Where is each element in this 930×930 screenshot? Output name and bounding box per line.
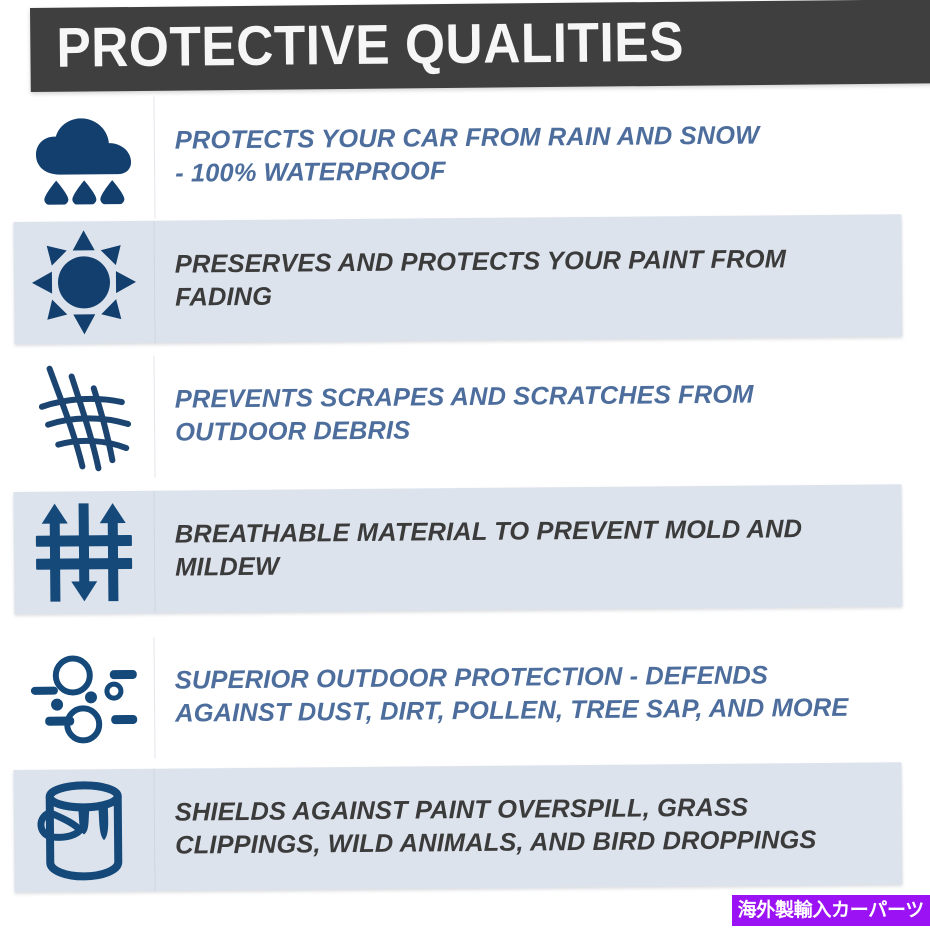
feature-label: PRESERVES AND PROTECTS YOUR PAINT FROM F… <box>175 242 889 314</box>
feature-row: SUPERIOR OUTDOOR PROTECTION - DEFENDS AG… <box>13 630 902 760</box>
breathable-airflow-icon <box>13 491 154 614</box>
feature-row: BREATHABLE MATERIAL TO PREVENT MOLD AND … <box>13 484 902 614</box>
feature-row: PROTECTS YOUR CAR FROM RAIN AND SNOW - 1… <box>13 90 902 220</box>
protective-qualities-infographic: PROTECTIVE QUALITIES PROTECTS YOUR CAR F… <box>0 0 930 930</box>
watermark-badge: 海外製輸入カーパーツ <box>732 895 930 926</box>
feature-row: PRESERVES AND PROTECTS YOUR PAINT FROM F… <box>13 214 902 344</box>
feature-text-cell: PREVENTS SCRAPES AND SCRATCHES FROM OUTD… <box>155 377 903 450</box>
feature-label: SHIELDS AGAINST PAINT OVERSPILL, GRASS C… <box>175 790 889 862</box>
paint-can-icon <box>13 769 154 892</box>
scratches-icon <box>13 356 154 479</box>
feature-label: PROTECTS YOUR CAR FROM RAIN AND SNOW - 1… <box>175 118 889 190</box>
feature-text-cell: SUPERIOR OUTDOOR PROTECTION - DEFENDS AG… <box>155 658 903 731</box>
feature-text-cell: SHIELDS AGAINST PAINT OVERSPILL, GRASS C… <box>155 790 903 863</box>
sun-icon <box>13 221 154 344</box>
feature-label: PREVENTS SCRAPES AND SCRATCHES FROM OUTD… <box>175 377 889 449</box>
feature-label: BREATHABLE MATERIAL TO PREVENT MOLD AND … <box>175 512 889 584</box>
page-title: PROTECTIVE QUALITIES <box>56 10 684 80</box>
feature-row: SHIELDS AGAINST PAINT OVERSPILL, GRASS C… <box>13 762 902 892</box>
feature-label: SUPERIOR OUTDOOR PROTECTION - DEFENDS AG… <box>175 658 889 730</box>
header-banner: PROTECTIVE QUALITIES <box>30 0 930 92</box>
feature-text-cell: PROTECTS YOUR CAR FROM RAIN AND SNOW - 1… <box>155 118 903 191</box>
feature-row: PREVENTS SCRAPES AND SCRATCHES FROM OUTD… <box>13 349 902 479</box>
feature-text-cell: PRESERVES AND PROTECTS YOUR PAINT FROM F… <box>155 242 903 315</box>
rain-cloud-icon <box>13 97 154 220</box>
dust-particles-icon <box>13 637 154 760</box>
feature-text-cell: BREATHABLE MATERIAL TO PREVENT MOLD AND … <box>155 512 903 585</box>
